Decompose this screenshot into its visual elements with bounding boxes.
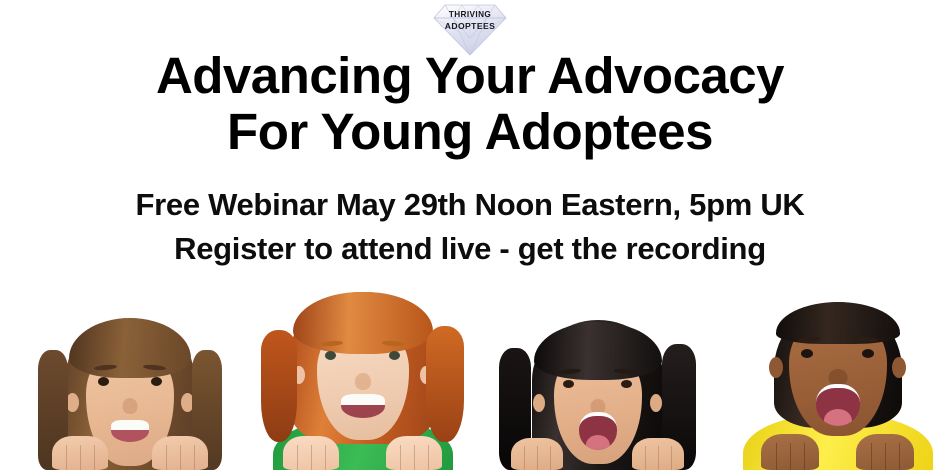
child-4-hands xyxy=(735,430,940,470)
headline-line-1: Advancing Your Advocacy xyxy=(0,48,940,104)
child-photo-1 xyxy=(30,305,230,470)
child-photo-3 xyxy=(495,310,700,470)
four-smiling-children-photo xyxy=(0,288,940,470)
child-photo-2 xyxy=(255,290,470,470)
logo-line2: ADOPTEES xyxy=(431,22,509,31)
headline-block: Advancing Your Advocacy For Young Adopte… xyxy=(0,48,940,270)
child-3-hands xyxy=(495,430,700,470)
headline-line-2: For Young Adoptees xyxy=(0,104,940,160)
subheadline-line-1: Free Webinar May 29th Noon Eastern, 5pm … xyxy=(0,184,940,226)
child-photo-4 xyxy=(735,295,940,470)
logo-line1: THRIVING xyxy=(431,11,509,19)
child-2-hands xyxy=(255,430,470,470)
child-1-hands xyxy=(30,430,230,470)
webinar-promo-banner: THRIVING ADOPTEES Advancing Your Advocac… xyxy=(0,0,940,470)
subheadline-line-2: Register to attend live - get the record… xyxy=(0,228,940,270)
